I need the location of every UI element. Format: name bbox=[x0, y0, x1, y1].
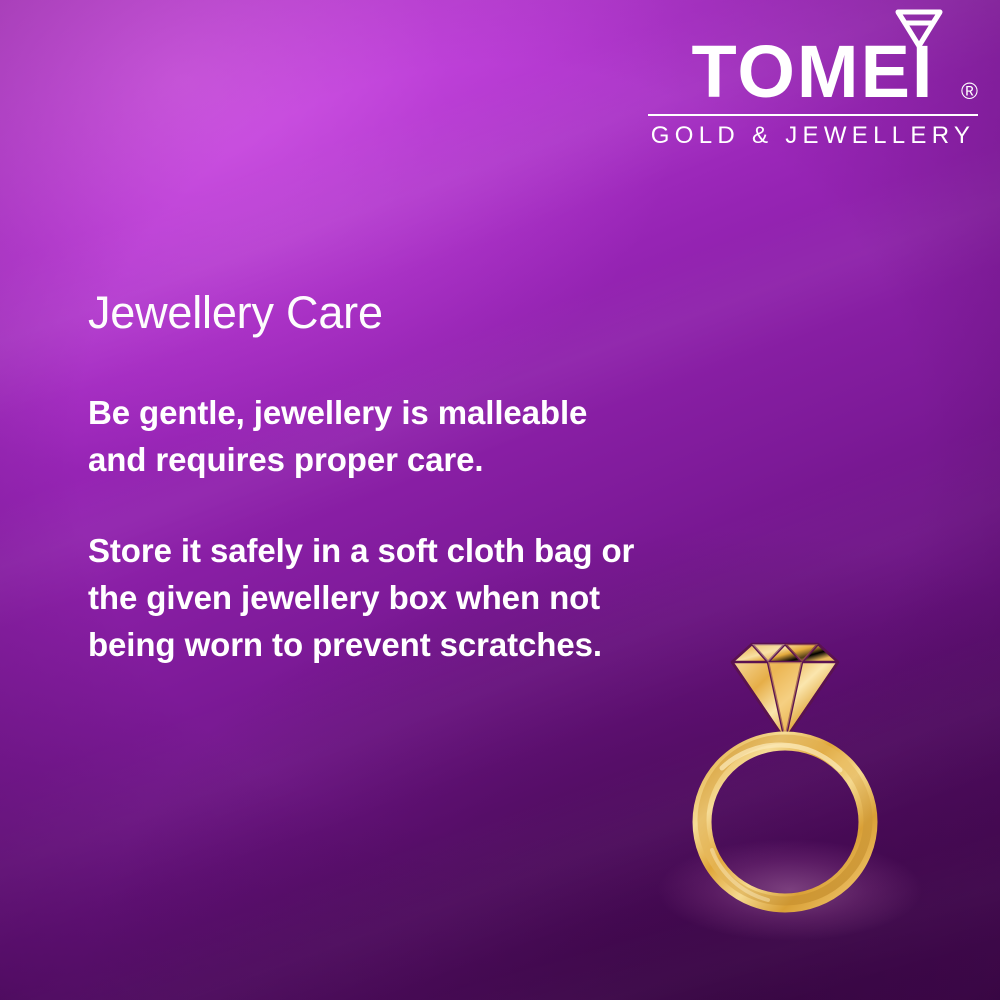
brand-tagline: GOLD & JEWELLERY bbox=[648, 122, 978, 150]
diamond-gem-icon bbox=[732, 644, 838, 740]
ring-artwork-svg bbox=[690, 640, 880, 930]
care-paragraph-2: Store it safely in a soft cloth bag or t… bbox=[88, 528, 648, 669]
brand-logo: TOMEI ® GOLD & JEWELLERY bbox=[648, 8, 978, 150]
logo-divider-rule bbox=[648, 114, 978, 116]
copy-block: Jewellery Care Be gentle, jewellery is m… bbox=[88, 288, 648, 669]
jewellery-care-poster: TOMEI ® GOLD & JEWELLERY Jewellery Care … bbox=[0, 0, 1000, 1000]
ring-band-icon bbox=[702, 739, 868, 903]
diamond-ring-illustration bbox=[690, 640, 880, 930]
page-title: Jewellery Care bbox=[88, 288, 648, 338]
brand-wordmark: TOMEI ® bbox=[648, 8, 978, 109]
care-paragraph-1: Be gentle, jewellery is malleable and re… bbox=[88, 390, 648, 484]
brand-wordmark-text: TOMEI bbox=[692, 30, 935, 113]
registered-trademark-icon: ® bbox=[961, 80, 980, 103]
